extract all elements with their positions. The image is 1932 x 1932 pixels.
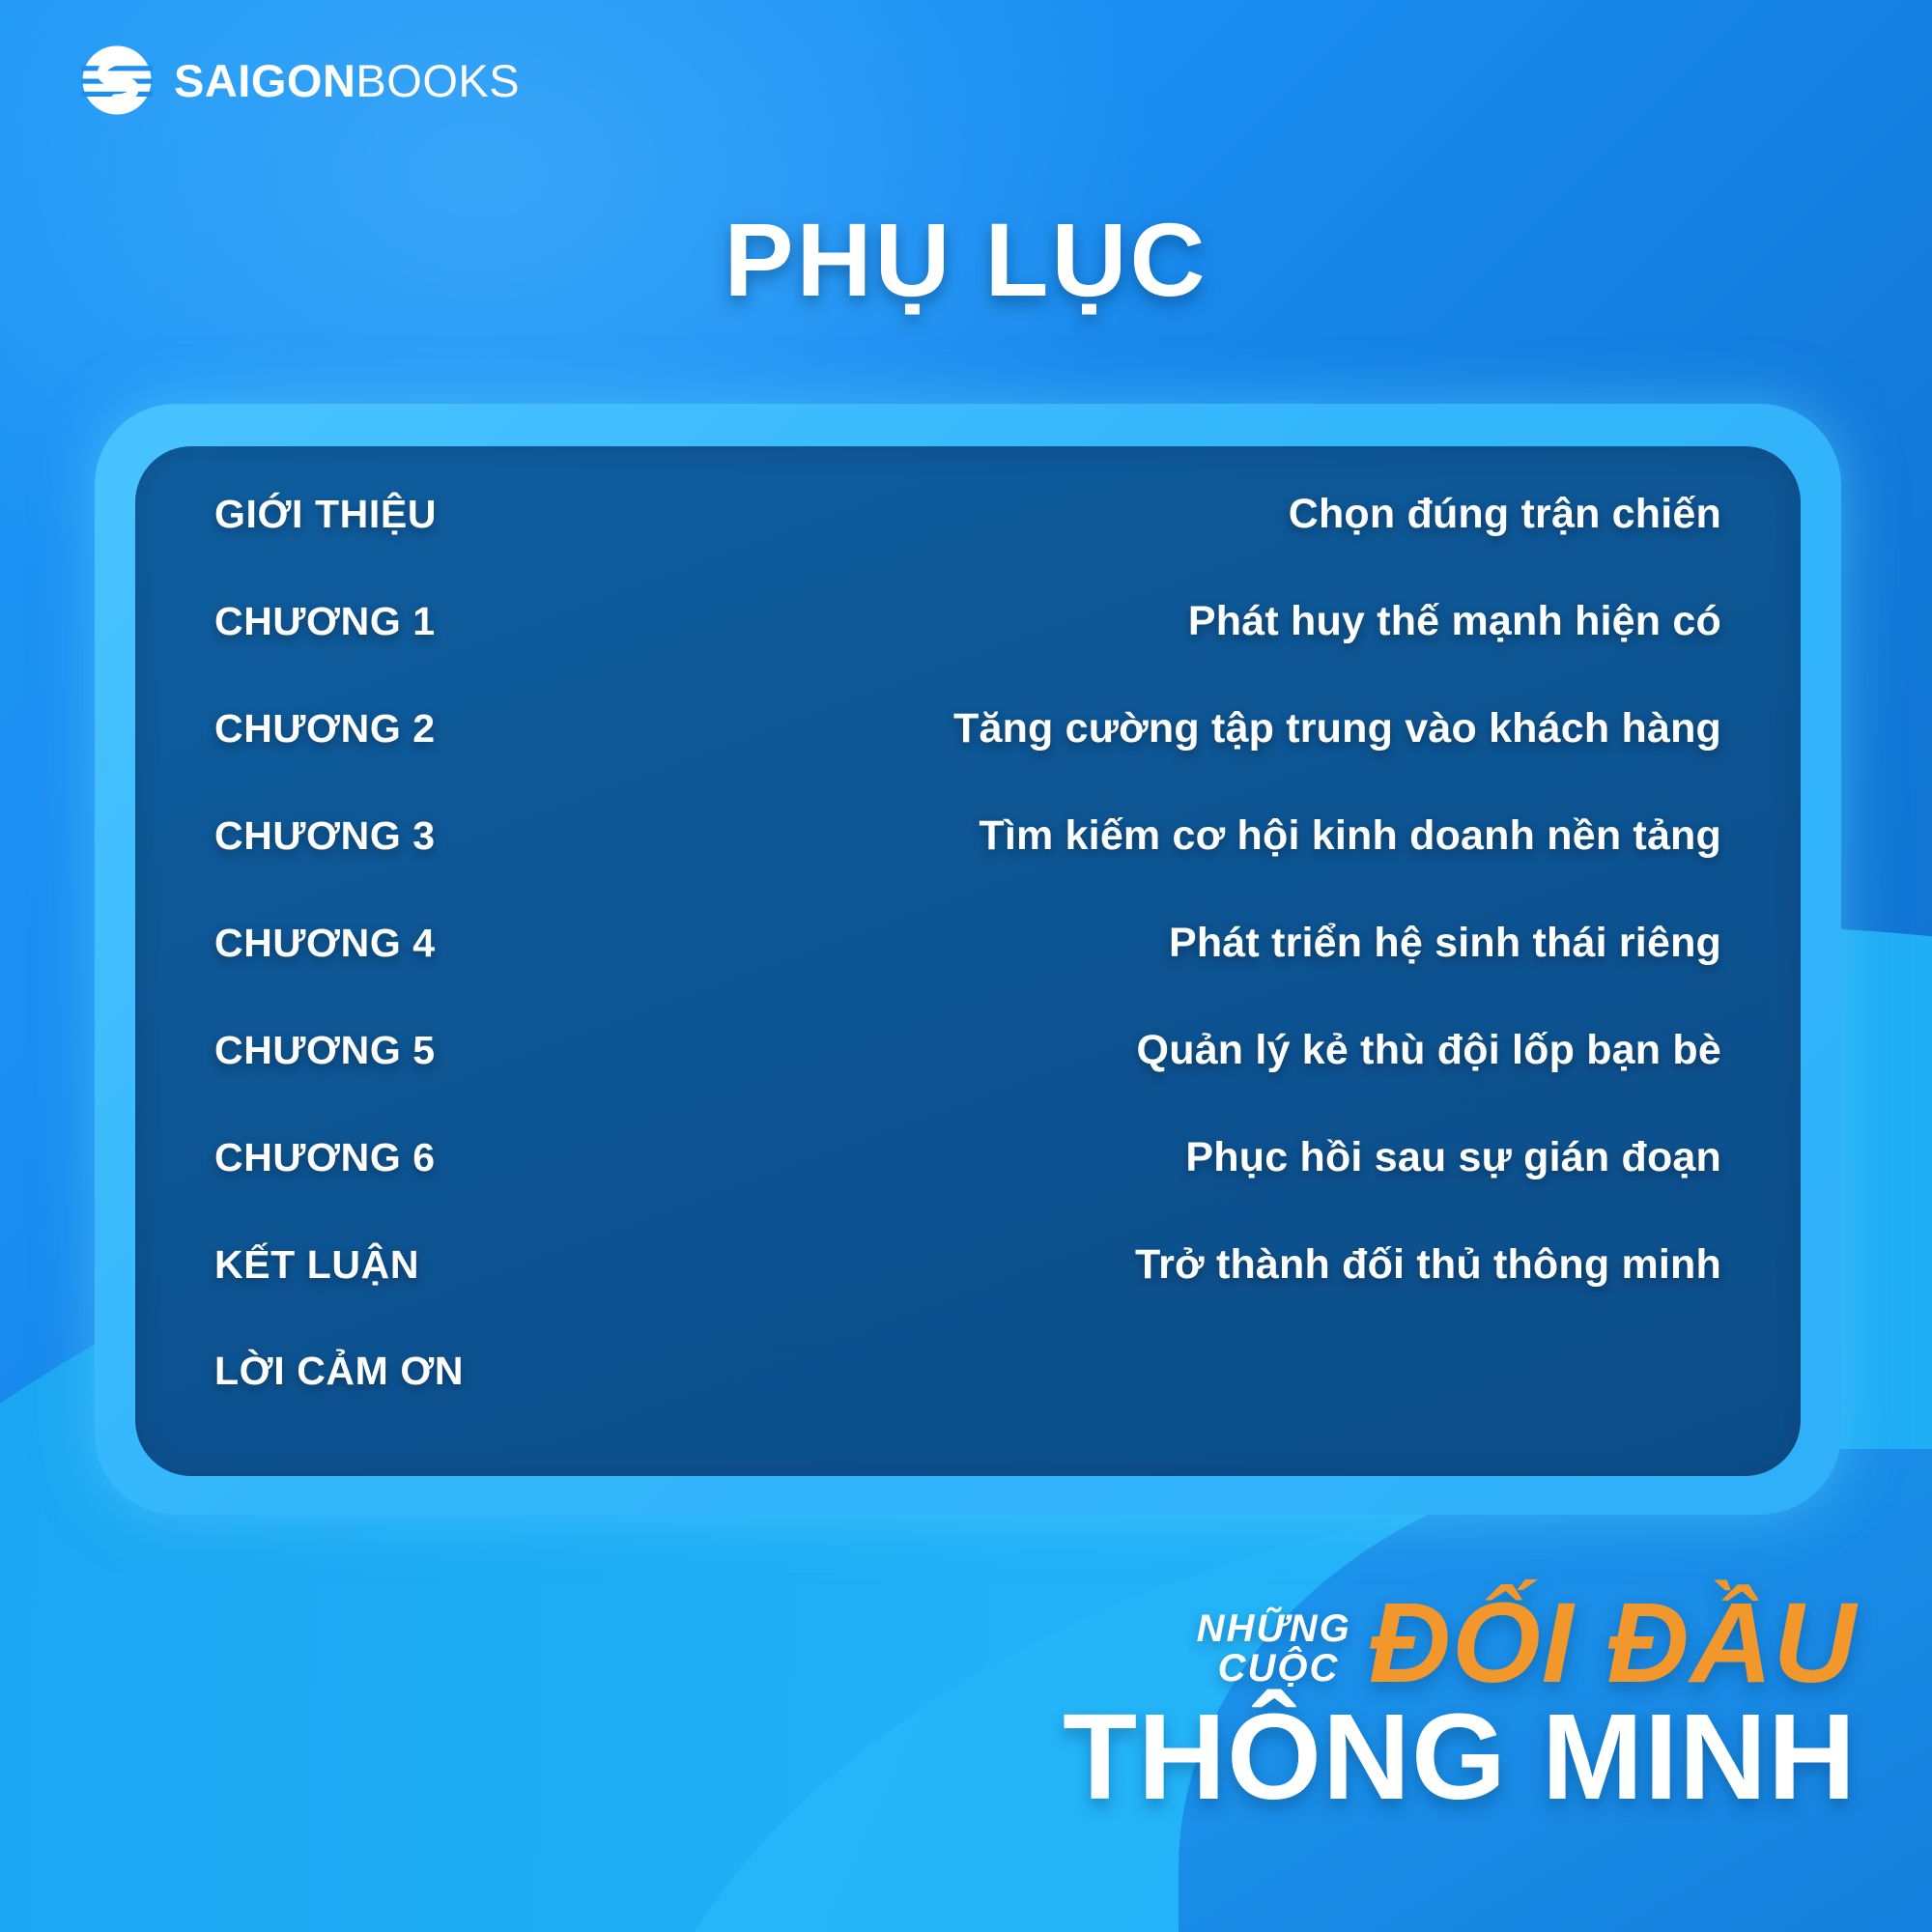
toc-row-label: CHƯƠNG 3 (214, 813, 436, 859)
toc-row-label: CHƯƠNG 1 (214, 599, 436, 644)
toc-row-label: CHƯƠNG 2 (214, 706, 436, 752)
toc-row[interactable]: KẾT LUẬN Trở thành đối thủ thông minh (214, 1241, 1721, 1349)
toc-row-label: CHƯƠNG 4 (214, 921, 436, 966)
toc-row-label: CHƯƠNG 5 (214, 1028, 436, 1073)
toc-row-value: Trở thành đối thủ thông minh (1135, 1241, 1721, 1289)
toc-row-label: GIỚI THIỆU (214, 492, 437, 537)
toc-row[interactable]: LỜI CẢM ƠN (214, 1349, 1721, 1456)
toc-row-value: Quản lý kẻ thù đội lốp bạn bè (1137, 1027, 1721, 1074)
saigonbooks-logo: SAIGONBOOKS (81, 44, 520, 116)
toc-row[interactable]: CHƯƠNG 2 Tăng cường tập trung vào khách … (214, 705, 1721, 812)
toc-list: GIỚI THIỆU Chọn đúng trận chiến CHƯƠNG 1… (214, 491, 1721, 1456)
book-title-prefix-word-2: CUỘC (1197, 1649, 1351, 1689)
page-title: PHỤ LỤC (0, 199, 1932, 320)
toc-row[interactable]: CHƯƠNG 5 Quản lý kẻ thù đội lốp bạn bè (214, 1027, 1721, 1134)
book-title-main: THÔNG MINH (1063, 1696, 1857, 1818)
toc-row-value: Chọn đúng trận chiến (1289, 491, 1721, 538)
book-title-lockup: NHỮNG CUỘC ĐỐI ĐẦU THÔNG MINH (1063, 1589, 1857, 1818)
toc-row[interactable]: GIỚI THIỆU Chọn đúng trận chiến (214, 491, 1721, 598)
toc-row-value: Tìm kiếm cơ hội kinh doanh nền tảng (979, 812, 1721, 860)
toc-row[interactable]: CHƯƠNG 4 Phát triển hệ sinh thái riêng (214, 920, 1721, 1027)
logo-word-books: BOOKS (355, 55, 520, 106)
saigonbooks-logo-text: SAIGONBOOKS (174, 58, 520, 103)
toc-row-label: LỜI CẢM ƠN (214, 1349, 464, 1394)
saigonbooks-logo-icon (81, 44, 153, 116)
logo-word-saigon: SAIGON (174, 55, 355, 106)
toc-row-label: CHƯƠNG 6 (214, 1135, 436, 1180)
toc-card: GIỚI THIỆU Chọn đúng trận chiến CHƯƠNG 1… (135, 446, 1801, 1476)
toc-row-label: KẾT LUẬN (214, 1242, 419, 1288)
toc-row[interactable]: CHƯƠNG 1 Phát huy thế mạnh hiện có (214, 598, 1721, 705)
book-title-prefix-word-1: NHỮNG (1197, 1609, 1351, 1649)
toc-row-value: Phát huy thế mạnh hiện có (1188, 598, 1721, 645)
toc-row-value: Phát triển hệ sinh thái riêng (1169, 920, 1721, 967)
toc-row[interactable]: CHƯƠNG 6 Phục hồi sau sự gián đoạn (214, 1134, 1721, 1241)
toc-row-value: Phục hồi sau sự gián đoạn (1185, 1134, 1721, 1181)
book-title-prefix: NHỮNG CUỘC (1197, 1609, 1351, 1698)
toc-row[interactable]: CHƯƠNG 3 Tìm kiếm cơ hội kinh doanh nền … (214, 812, 1721, 920)
poster-canvas: SAIGONBOOKS PHỤ LỤC GIỚI THIỆU Chọn đúng… (0, 0, 1932, 1932)
book-title-line-1: NHỮNG CUỘC ĐỐI ĐẦU (1063, 1589, 1857, 1698)
book-title-accent: ĐỐI ĐẦU (1369, 1589, 1857, 1698)
toc-row-value: Tăng cường tập trung vào khách hàng (953, 705, 1721, 753)
